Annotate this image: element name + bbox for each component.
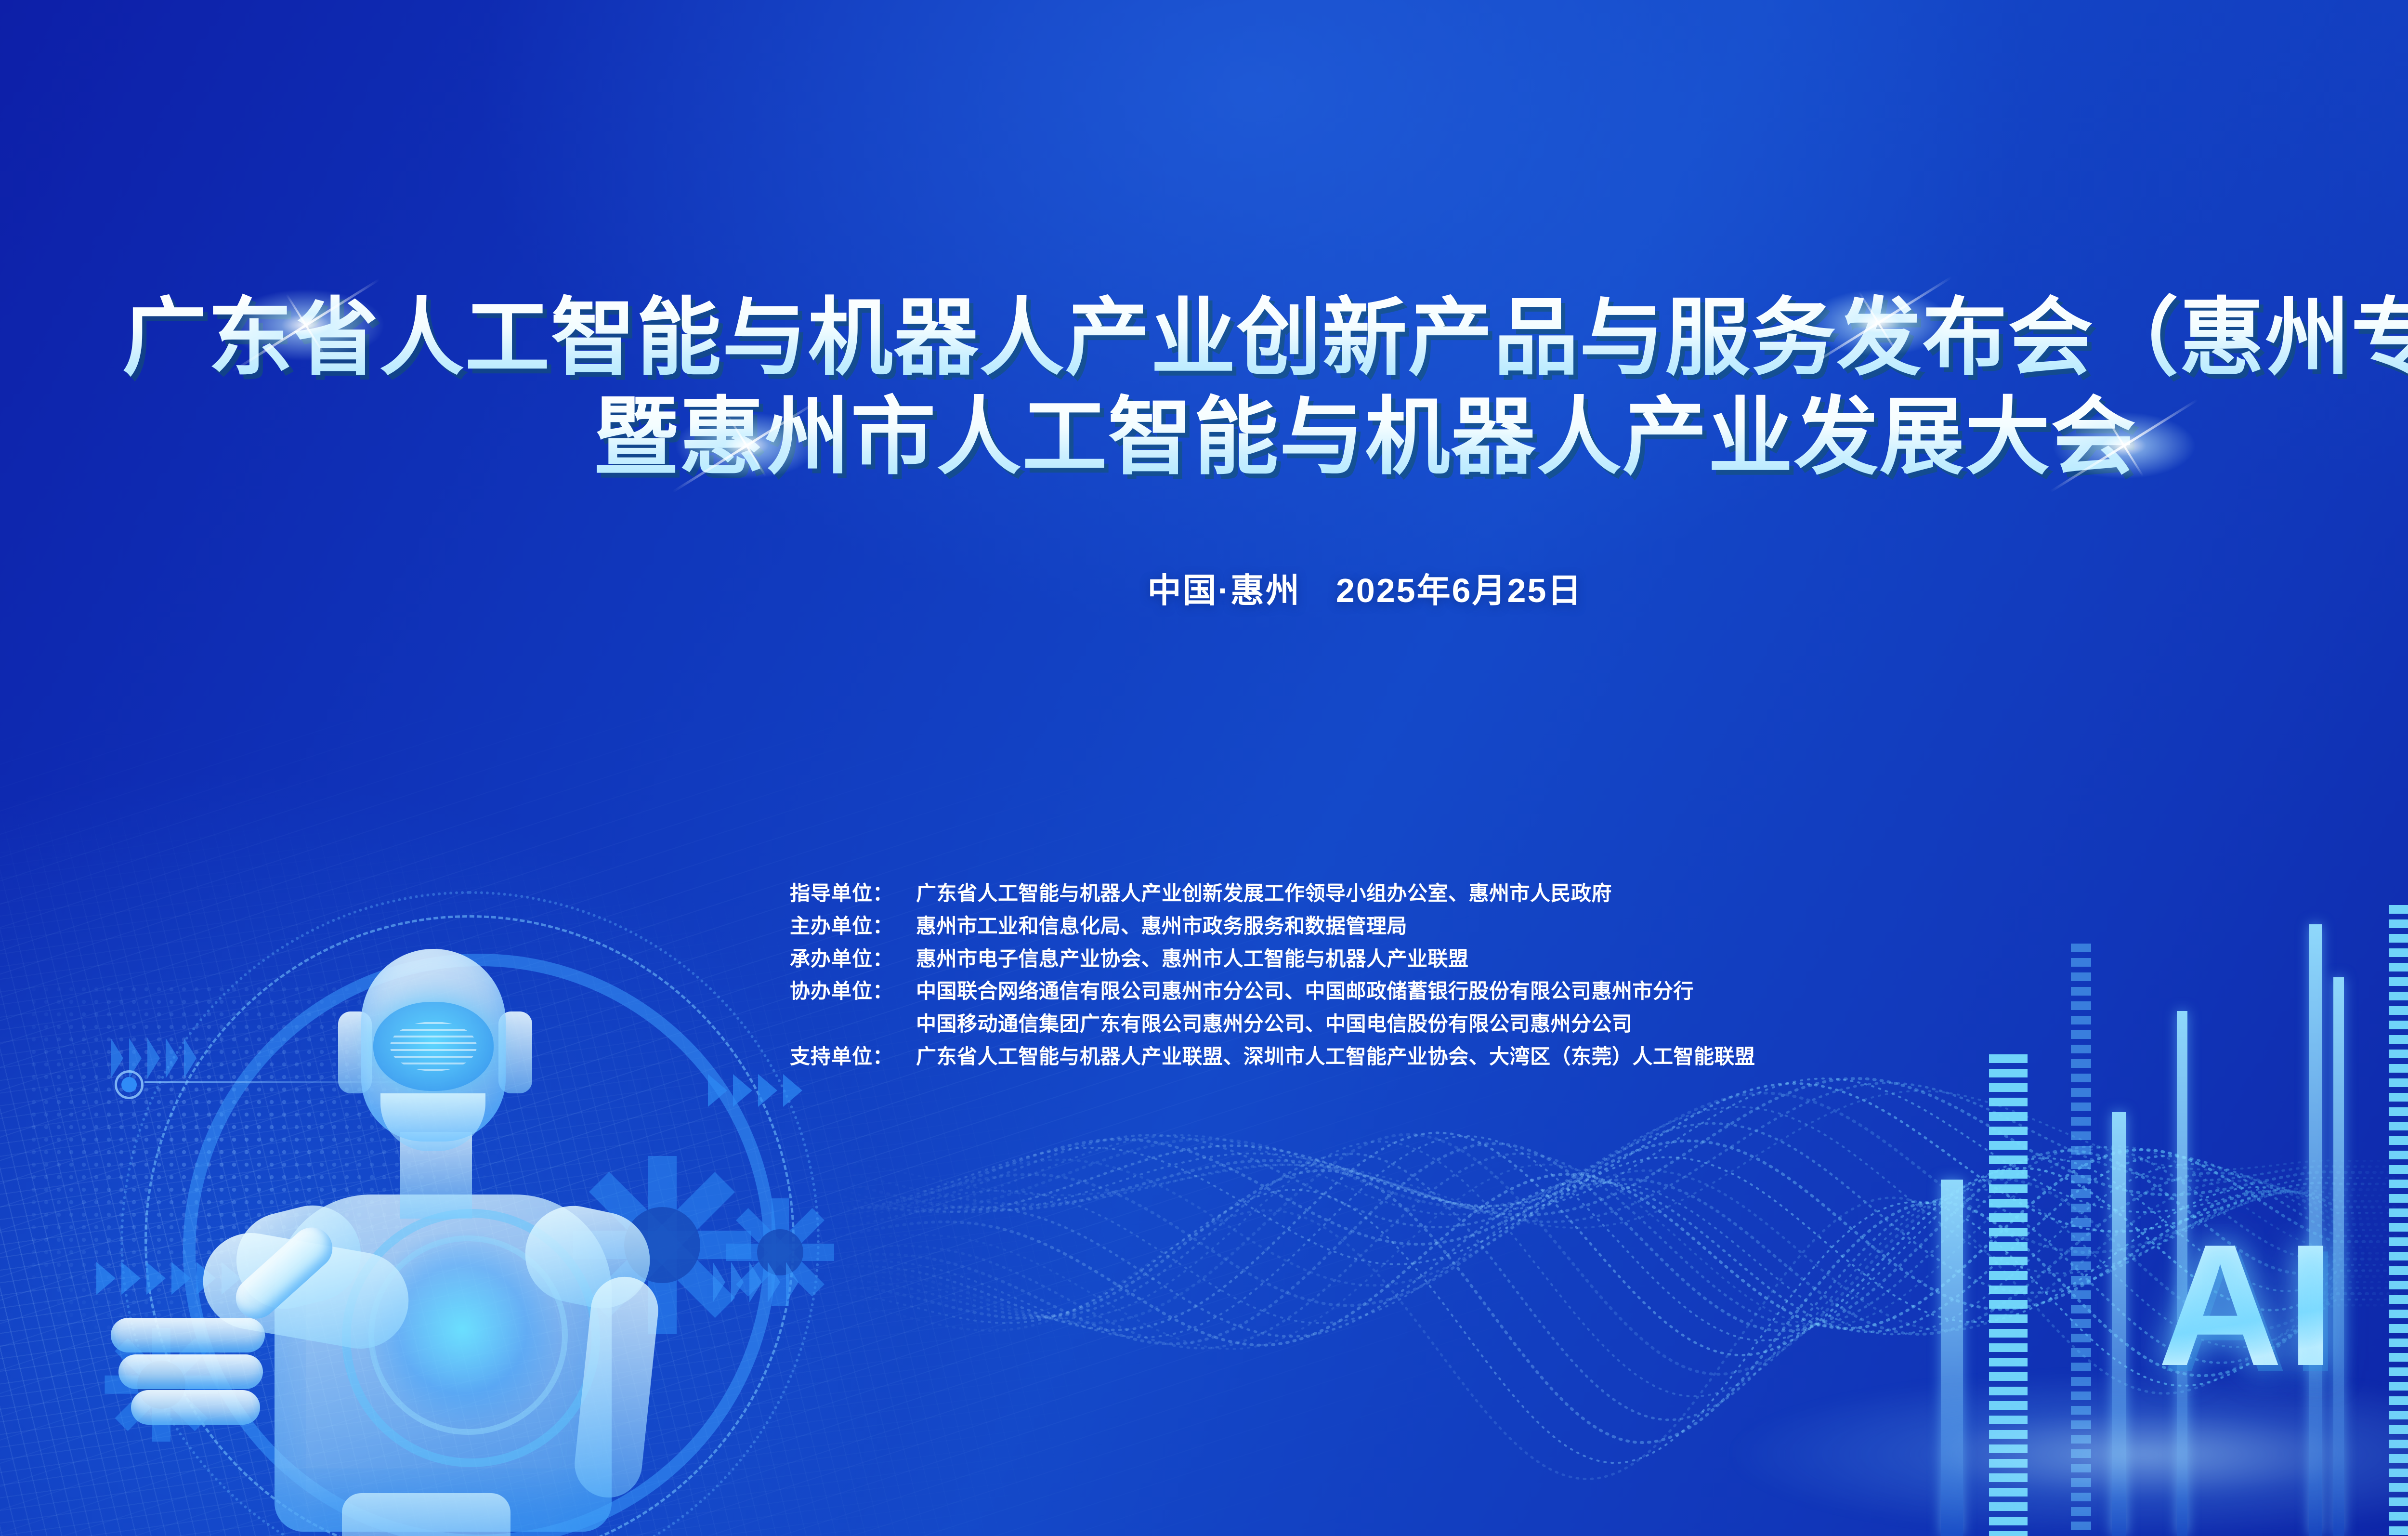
- chevron-arrow-icon: [708, 1074, 808, 1107]
- chevron-arrow-icon: [96, 1262, 247, 1295]
- organizers-block: 指导单位：广东省人工智能与机器人产业创新发展工作领导小组办公室、惠州市人民政府主…: [790, 880, 1755, 1077]
- gear-icon: [583, 1166, 742, 1325]
- title-line-1: 广东省人工智能与机器人产业创新产品与服务发布会（惠州专场）: [0, 289, 2408, 388]
- chevron-arrow-icon: [111, 1038, 202, 1078]
- organizer-label: 支持单位：: [790, 1044, 910, 1070]
- gear-icon: [732, 1204, 828, 1300]
- dot-grid-texture: [27, 983, 519, 1382]
- organizer-row: 支持单位：广东省人工智能与机器人产业联盟、深圳市人工智能产业协会、大湾区（东莞）…: [790, 1044, 1755, 1070]
- floor-glow: [1734, 1373, 2408, 1536]
- organizer-label: 主办单位：: [790, 913, 910, 939]
- robot-figure-illustration: [92, 939, 727, 1536]
- organizer-value: 中国移动通信集团广东有限公司惠州分公司、中国电信股份有限公司惠州分公司: [910, 1011, 1633, 1037]
- organizer-value: 惠州市电子信息产业协会、惠州市人工智能与机器人产业联盟: [910, 946, 1469, 972]
- node-dot-icon: [115, 1070, 144, 1099]
- equalizer-bar: [2389, 905, 2408, 1536]
- poster-canvas: AI 广东省人工智能与机器人产业创新产品与服务发布会（惠州专场） 暨惠州市人工智…: [0, 0, 2408, 1536]
- diagonal-lines-texture: [0, 677, 1544, 1536]
- organizer-value: 惠州市工业和信息化局、惠州市政务服务和数据管理局: [910, 913, 1407, 939]
- hud-ring-icon: [183, 954, 776, 1536]
- page-title: 广东省人工智能与机器人产业创新产品与服务发布会（惠州专场） 暨惠州市人工智能与机…: [0, 289, 2408, 487]
- equalizer-bar: [2333, 977, 2344, 1536]
- title-line-2: 暨惠州市人工智能与机器人产业发展大会: [0, 388, 2408, 487]
- equalizer-bar: [2177, 1011, 2187, 1536]
- equalizer-bar: [2309, 924, 2322, 1536]
- organizer-label: 指导单位：: [790, 880, 910, 906]
- organizer-row: 承办单位：惠州市电子信息产业协会、惠州市人工智能与机器人产业联盟: [790, 946, 1755, 972]
- hud-dashed-ring-icon: [144, 915, 795, 1536]
- ai-logo-text: AI: [2158, 1219, 2339, 1392]
- sound-wave-graphic: [819, 1002, 2408, 1532]
- equalizer-bar: [2071, 944, 2091, 1536]
- organizer-row: 协办单位：中国联合网络通信有限公司惠州市分公司、中国邮政储蓄银行股份有限公司惠州…: [790, 978, 1755, 1004]
- equalizer-bar: [2112, 1112, 2126, 1536]
- organizer-label: 承办单位：: [790, 946, 910, 972]
- equalizer-bar: [1941, 1180, 1963, 1536]
- organizer-row: 协办单位：中国移动通信集团广东有限公司惠州分公司、中国电信股份有限公司惠州分公司: [790, 1011, 1755, 1037]
- chevron-arrow-icon: [713, 1262, 804, 1302]
- subtitle-location-date: 中国·惠州 2025年6月25日: [0, 564, 2408, 612]
- organizer-value: 广东省人工智能与机器人产业创新发展工作领导小组办公室、惠州市人民政府: [910, 880, 1612, 906]
- organizer-row: 主办单位：惠州市工业和信息化局、惠州市政务服务和数据管理局: [790, 913, 1755, 939]
- equalizer-bar: [1989, 1054, 2028, 1536]
- organizer-label: 协办单位：: [790, 978, 910, 1004]
- hud-dotted-ring-icon: [120, 891, 820, 1536]
- organizer-value: 中国联合网络通信有限公司惠州市分公司、中国邮政储蓄银行股份有限公司惠州市分行: [910, 978, 1694, 1004]
- gear-icon: [111, 1334, 212, 1435]
- node-connector-line: [144, 1081, 414, 1083]
- organizer-row: 指导单位：广东省人工智能与机器人产业创新发展工作领导小组办公室、惠州市人民政府: [790, 880, 1755, 906]
- organizer-value: 广东省人工智能与机器人产业联盟、深圳市人工智能产业协会、大湾区（东莞）人工智能联…: [910, 1044, 1755, 1070]
- background-decoration: AI: [0, 0, 2408, 1536]
